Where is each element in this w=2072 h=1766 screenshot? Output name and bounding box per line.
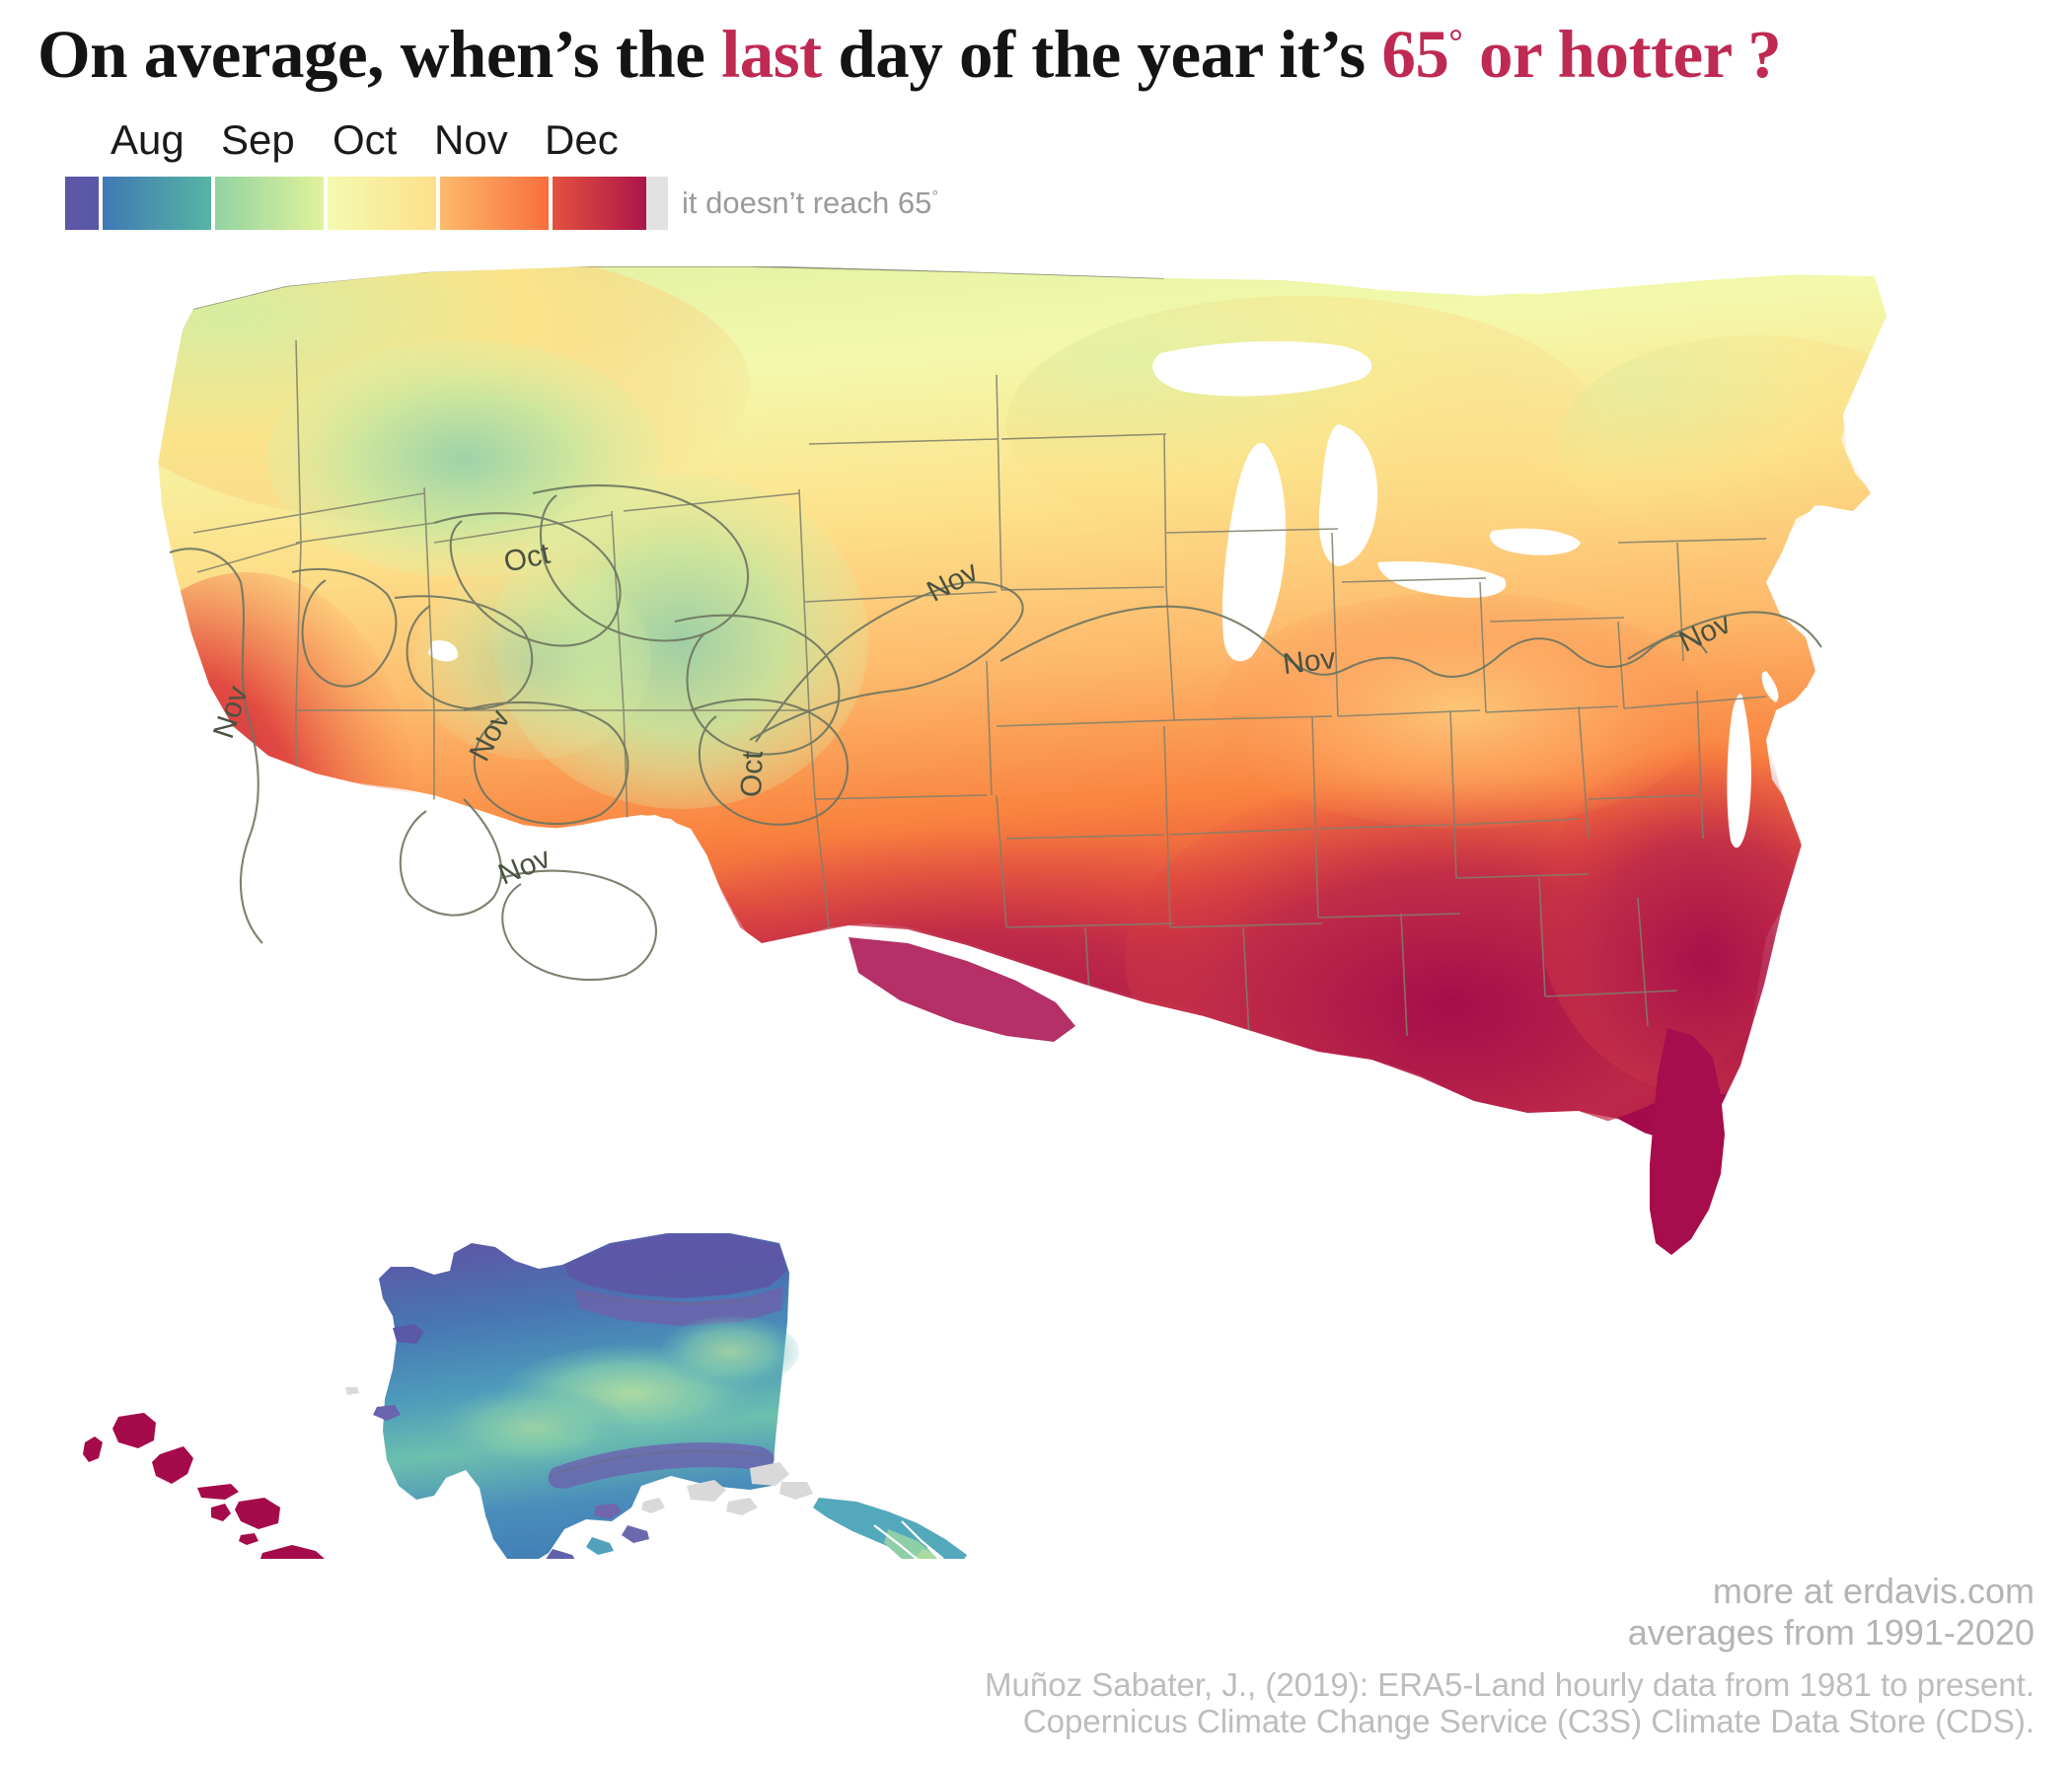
colorbar-segment-nov [440,177,549,230]
colorbar [65,177,661,230]
colorbar-segment-oct [328,177,436,230]
title-temp-rest: or hotter ? [1462,17,1781,92]
title-temp-number: 65 [1381,17,1448,92]
citation-line-1: Muñoz Sabater, J., (2019): ERA5-Land hou… [985,1667,2035,1704]
no-data-text: it doesn’t reach 65 [682,185,931,220]
no-data-legend-entry: it doesn’t reach 65° [646,177,938,230]
contour-label-oct-2: Oct [735,750,770,797]
title-highlight-last: last [721,17,822,92]
citation-line-2: Copernicus Climate Change Service (C3S) … [985,1704,2035,1740]
colorbar-segment-dec [553,177,661,230]
colorbar-label-nov: Nov [434,116,508,164]
page-title: On average, when’s the last day of the y… [37,16,1781,94]
colorbar-segment-aug [103,177,211,230]
choropleth-map[interactable]: Oct Nov Nov Nov Oct Nov Nov Nov [0,247,2072,1559]
colorbar-tick-labels: Aug Sep Oct Nov Dec [0,116,651,170]
alaska-kuskokwim-valley [439,1387,627,1466]
colorbar-label-sep: Sep [221,116,295,164]
title-part-2: day of the year it’s [822,17,1382,92]
no-data-swatch [646,177,668,230]
no-data-degree-symbol: ° [931,187,938,206]
contour-label-nov-midwest: Nov [1281,642,1337,681]
title-highlight-temp: 65° or hotter ? [1381,17,1781,92]
title-part-1: On average, when’s the [37,17,721,92]
attribution-period: averages from 1991-2020 [1628,1612,2035,1654]
colorbar-label-dec: Dec [545,116,619,164]
map-container[interactable]: Oct Nov Nov Nov Oct Nov Nov Nov [0,247,2072,1559]
data-citation: Muñoz Sabater, J., (2019): ERA5-Land hou… [985,1667,2035,1740]
degree-symbol: ° [1448,22,1462,61]
alaska-tanana-valley [661,1316,799,1387]
colorbar-label-aug: Aug [111,116,185,164]
colorbar-label-oct: Oct [333,116,397,164]
attribution-site: more at erdavis.com [1628,1571,2035,1612]
colorbar-segment-sep [215,177,324,230]
legend: Aug Sep Oct Nov Dec it doesn’t reach 65° [0,116,1085,245]
colorbar-segment-pre-aug [65,177,99,230]
no-data-label: it doesn’t reach 65° [682,185,938,221]
attribution-more: more at erdavis.com averages from 1991-2… [1628,1571,2035,1655]
